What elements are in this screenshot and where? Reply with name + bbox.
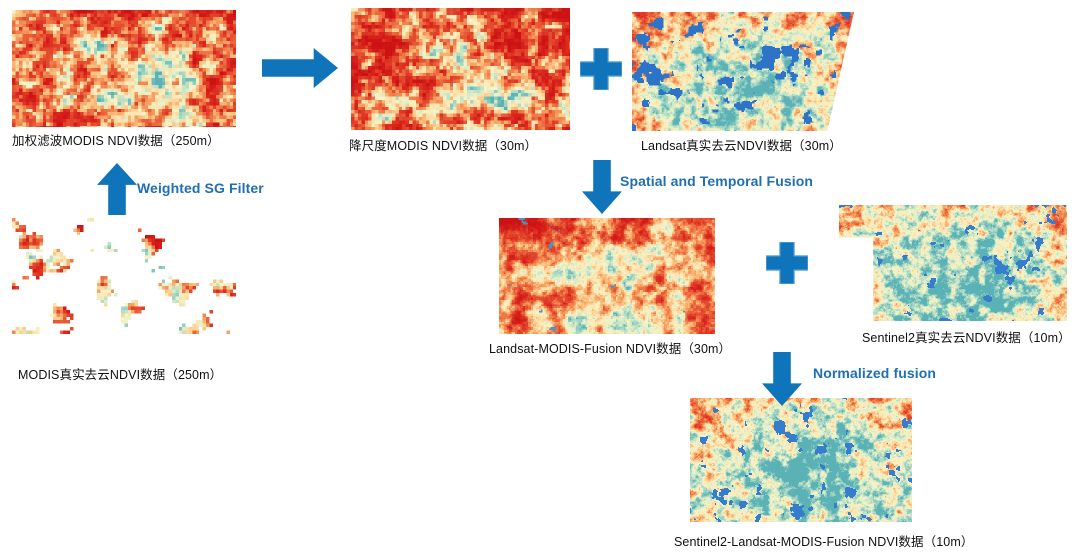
ndvi-raster-image bbox=[632, 12, 854, 131]
caption-sentinel2-cloudfree: Sentinel2真实去云NDVI数据（10m） bbox=[862, 331, 1071, 346]
panel-modis-cloudfree bbox=[12, 218, 236, 334]
step-label-spatial-temporal-fusion: Spatial and Temporal Fusion bbox=[620, 173, 813, 189]
caption-modis-cloudfree: MODIS真实去云NDVI数据（250m） bbox=[18, 368, 222, 383]
panel-weighted-sg-modis bbox=[12, 10, 236, 127]
panel-landsat-modis-fusion bbox=[499, 218, 715, 334]
panel-sentinel2-landsat-modis-fusion bbox=[690, 398, 912, 522]
ndvi-raster-image bbox=[12, 10, 236, 127]
ndvi-raster-image bbox=[839, 205, 1067, 321]
panel-downscaled-modis bbox=[351, 8, 570, 130]
plus-icon bbox=[766, 242, 808, 284]
arrow-right-icon bbox=[262, 48, 338, 88]
plus-icon bbox=[580, 48, 622, 90]
panel-landsat-cloudfree bbox=[632, 12, 854, 131]
caption-final-fusion: Sentinel2-Landsat-MODIS-Fusion NDVI数据（10… bbox=[674, 535, 973, 550]
ndvi-raster-image bbox=[12, 218, 236, 334]
step-label-normalized-fusion: Normalized fusion bbox=[813, 365, 936, 381]
step-label-weighted-sg-filter: Weighted SG Filter bbox=[137, 180, 264, 196]
ndvi-raster-image bbox=[499, 218, 715, 334]
caption-downscaled-modis: 降尺度MODIS NDVI数据（30m） bbox=[349, 139, 537, 154]
arrow-down-icon bbox=[762, 352, 802, 406]
panel-sentinel2-cloudfree bbox=[839, 205, 1067, 321]
ndvi-raster-image bbox=[351, 8, 570, 130]
caption-weighted-sg-modis: 加权滤波MODIS NDVI数据（250m） bbox=[12, 134, 220, 149]
arrow-up-icon bbox=[97, 163, 137, 215]
arrow-down-icon bbox=[582, 160, 622, 214]
ndvi-raster-image bbox=[690, 398, 912, 522]
caption-landsat-modis-fusion: Landsat-MODIS-Fusion NDVI数据（30m） bbox=[489, 342, 731, 357]
workflow-diagram: 加权滤波MODIS NDVI数据（250m） MODIS真实去云NDVI数据（2… bbox=[0, 0, 1080, 557]
caption-landsat-cloudfree: Landsat真实去云NDVI数据（30m） bbox=[641, 139, 842, 154]
